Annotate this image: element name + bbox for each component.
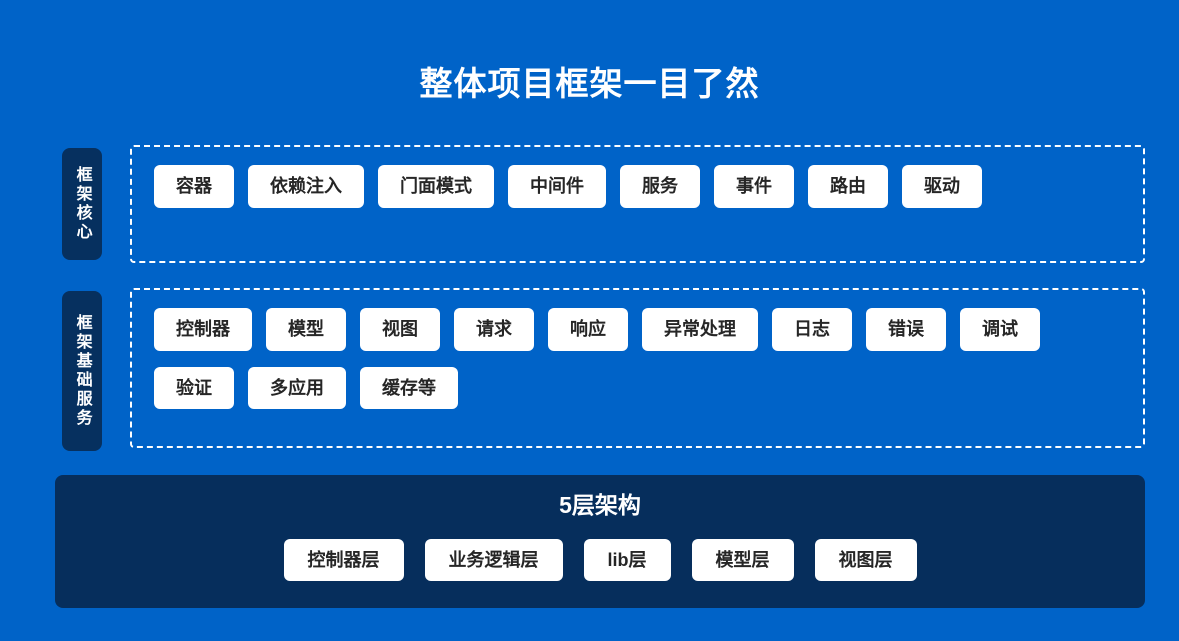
chip-request[interactable]: 请求: [454, 308, 534, 351]
architecture-layer-list: 控制器层 业务逻辑层 lib层 模型层 视图层: [55, 539, 1145, 582]
chip-multi-app[interactable]: 多应用: [248, 367, 346, 410]
chip-validation[interactable]: 验证: [154, 367, 234, 410]
section-framework-core: 框架核心 容器 依赖注入 门面模式 中间件 服务 事件 路由 驱动: [62, 145, 1145, 263]
chip-driver[interactable]: 驱动: [902, 165, 982, 208]
chip-facade-pattern[interactable]: 门面模式: [378, 165, 494, 208]
chip-dependency-injection[interactable]: 依赖注入: [248, 165, 364, 208]
chip-service[interactable]: 服务: [620, 165, 700, 208]
chip-model[interactable]: 模型: [266, 308, 346, 351]
section-label-framework-core: 框架核心: [62, 148, 102, 260]
chip-lib-layer[interactable]: lib层: [584, 539, 671, 582]
chip-route[interactable]: 路由: [808, 165, 888, 208]
section-framework-base-services: 框架基础服务 控制器 模型 视图 请求 响应 异常处理 日志 错误 调试 验证 …: [62, 288, 1145, 451]
architecture-panel: 5层架构 控制器层 业务逻辑层 lib层 模型层 视图层: [55, 475, 1145, 608]
chip-response[interactable]: 响应: [548, 308, 628, 351]
section-label-text: 框架核心: [70, 166, 93, 242]
chip-group-framework-core: 容器 依赖注入 门面模式 中间件 服务 事件 路由 驱动: [130, 145, 1145, 263]
chip-event[interactable]: 事件: [714, 165, 794, 208]
chip-debug[interactable]: 调试: [960, 308, 1040, 351]
chip-group-framework-base-services: 控制器 模型 视图 请求 响应 异常处理 日志 错误 调试 验证 多应用 缓存等: [130, 288, 1145, 448]
chip-error[interactable]: 错误: [866, 308, 946, 351]
section-label-framework-base-services: 框架基础服务: [62, 291, 102, 451]
section-label-text: 框架基础服务: [70, 314, 93, 428]
chip-cache-etc[interactable]: 缓存等: [360, 367, 458, 410]
chip-middleware[interactable]: 中间件: [508, 165, 606, 208]
architecture-title: 5层架构: [55, 491, 1145, 521]
chip-exception-handling[interactable]: 异常处理: [642, 308, 758, 351]
chip-container[interactable]: 容器: [154, 165, 234, 208]
slide-canvas: 整体项目框架一目了然 框架核心 容器 依赖注入 门面模式 中间件 服务 事件 路…: [0, 0, 1179, 641]
chip-controller-layer[interactable]: 控制器层: [284, 539, 404, 582]
chip-model-layer[interactable]: 模型层: [692, 539, 794, 582]
chip-business-logic-layer[interactable]: 业务逻辑层: [425, 539, 563, 582]
chip-view[interactable]: 视图: [360, 308, 440, 351]
chip-controller[interactable]: 控制器: [154, 308, 252, 351]
chip-view-layer[interactable]: 视图层: [815, 539, 917, 582]
page-title: 整体项目框架一目了然: [0, 64, 1179, 104]
chip-log[interactable]: 日志: [772, 308, 852, 351]
